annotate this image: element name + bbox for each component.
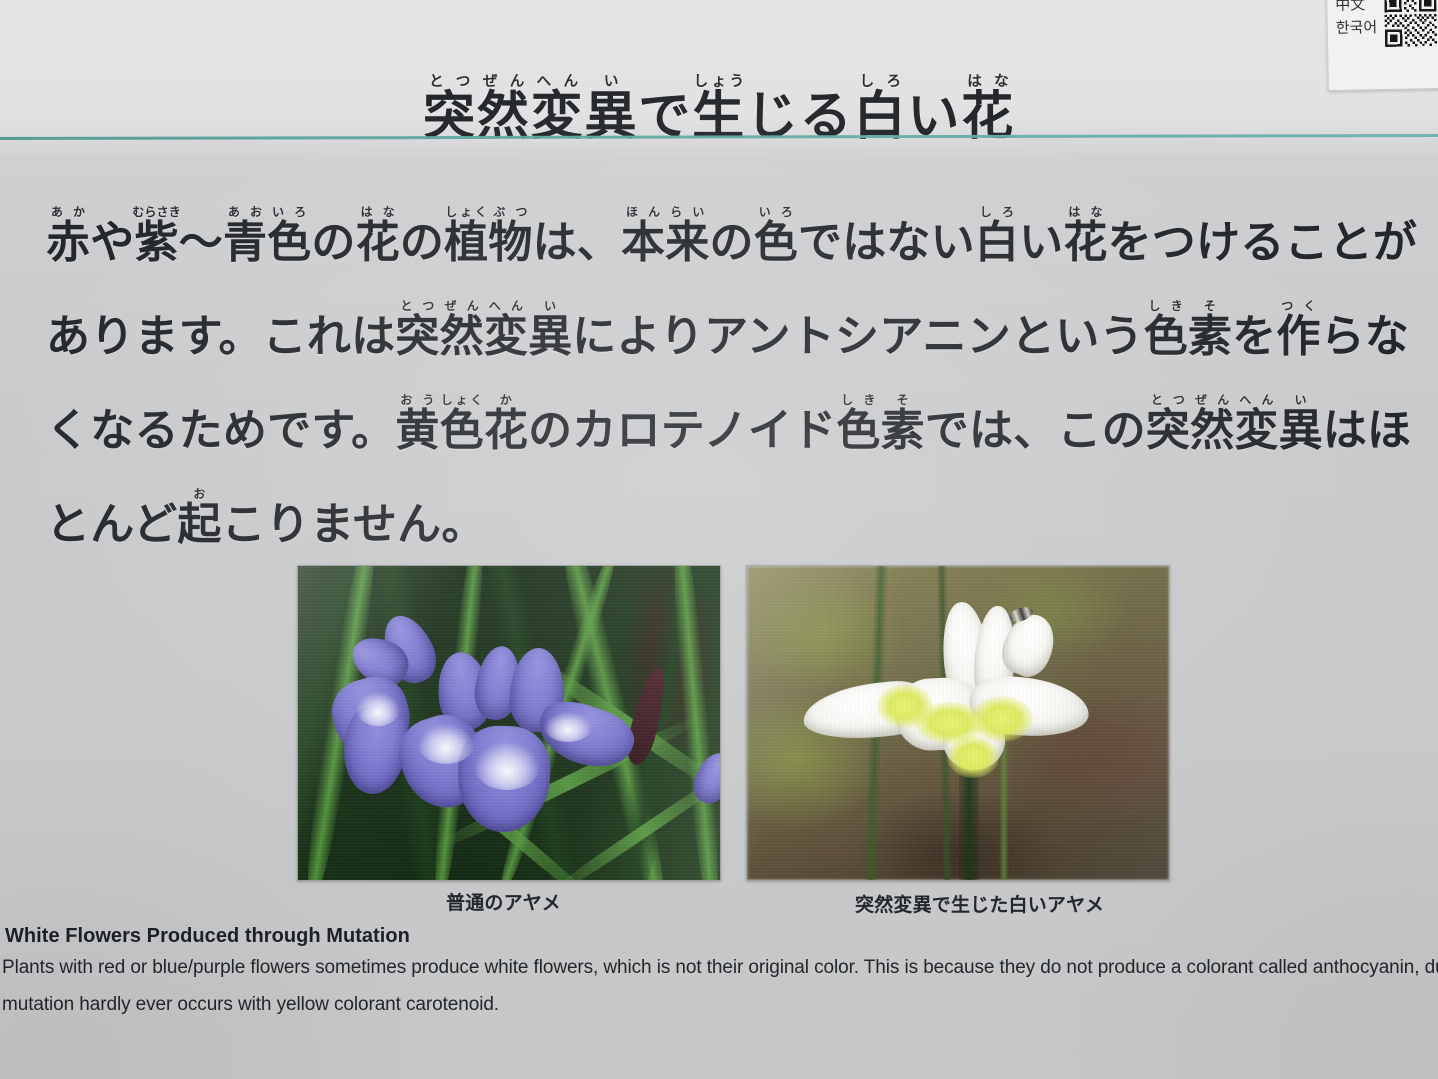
furigana: あか — [46, 205, 90, 219]
ruby-group: 素そ — [881, 405, 925, 456]
ruby-base: 花 — [356, 217, 400, 268]
japanese-body-text: 赤あかや紫むらさき〜青あお色いろの花はなの植しょく物ぶつは、本ほん来らいの色いろ… — [46, 196, 1408, 572]
furigana: へん — [1234, 393, 1278, 407]
ruby-base: 異 — [1279, 405, 1323, 456]
ruby-base: 色 — [440, 405, 484, 456]
furigana: へん — [531, 73, 585, 90]
japanese-body-line: くなるためです。黄おう色しょく花かのカロテノイド色しき素そでは、この突とつ然ぜん… — [46, 384, 1408, 478]
text-run: のカロテノイド — [528, 405, 836, 456]
furigana: むらさき — [132, 205, 180, 219]
furigana: そ — [1188, 299, 1232, 313]
ruby-base: 紫 — [132, 217, 180, 268]
ruby-group: 突とつ — [1146, 405, 1190, 456]
text-run: を — [1232, 311, 1276, 362]
furigana: とつ — [423, 73, 477, 90]
ruby-group: 色しき — [1144, 311, 1188, 362]
furigana: あお — [223, 205, 267, 219]
furigana: い — [1279, 393, 1323, 407]
japanese-body-line: とんど起おこりません。 — [46, 478, 1408, 572]
ruby-base: 突 — [395, 311, 439, 362]
text-run: ではない — [798, 217, 975, 268]
ruby-group: 物ぶつ — [488, 217, 532, 268]
ruby-base: 青 — [223, 217, 267, 268]
text-run: の — [311, 217, 355, 268]
ruby-base: 白 — [975, 217, 1019, 268]
furigana: しょく — [444, 205, 488, 219]
figure-normal-iris — [297, 565, 721, 881]
furigana: しろ — [854, 73, 908, 90]
ruby-base: 起 — [177, 499, 221, 550]
ruby-group: 変へん — [1234, 405, 1278, 456]
furigana: らい — [665, 205, 709, 219]
ruby-group: 然ぜん — [440, 311, 484, 362]
text-run: をつけることが — [1108, 217, 1418, 268]
language-qr-label[interactable]: 中文 한국어 — [1326, 0, 1438, 91]
furigana: ぜん — [1190, 393, 1234, 407]
sign-panel: 突とつ然ぜん変へん異いで生しょうじる白しろい花はな 赤あかや紫むらさき〜青あお色… — [0, 0, 1438, 1079]
ruby-base: 本 — [621, 217, 665, 268]
ruby-group: 変へん — [484, 311, 528, 362]
ruby-group: 来らい — [665, 217, 709, 268]
ruby-group: 紫むらさき — [134, 217, 178, 268]
japanese-body-line: 赤あかや紫むらさき〜青あお色いろの花はなの植しょく物ぶつは、本ほん来らいの色いろ… — [46, 196, 1408, 290]
figure-caption-normal-iris: 普通のアヤメ — [446, 888, 561, 915]
text-run: はほ — [1323, 405, 1411, 456]
ruby-group: 然ぜん — [1190, 405, 1234, 456]
text-run: い — [1019, 217, 1063, 268]
ruby-group: 起お — [177, 499, 221, 550]
furigana: しろ — [975, 205, 1019, 219]
furigana: そ — [881, 393, 925, 407]
text-run: らな — [1321, 311, 1409, 362]
furigana: お — [177, 487, 221, 501]
ruby-base: 花 — [1063, 217, 1107, 268]
ruby-group: 黄おう — [395, 405, 439, 456]
english-heading: White Flowers Produced through Mutation — [5, 925, 410, 948]
ruby-group: 赤あか — [46, 217, 90, 268]
ruby-base: 色 — [836, 405, 880, 456]
ruby-group: 色いろ — [267, 217, 311, 268]
qr-code-icon — [1384, 0, 1437, 47]
furigana: ほん — [621, 205, 665, 219]
ruby-group: 色いろ — [754, 217, 798, 268]
ruby-base: 物 — [488, 217, 532, 268]
ruby-base: 色 — [754, 217, 798, 268]
ruby-group: 異い — [528, 311, 572, 362]
ruby-base: 素 — [1188, 311, 1232, 362]
title-area: 突とつ然ぜん変へん異いで生しょうじる白しろい花はな — [0, 38, 1438, 184]
furigana: しょく — [440, 393, 484, 407]
ruby-base: 花 — [484, 405, 528, 456]
furigana: しょう — [692, 73, 746, 90]
furigana: ぜん — [477, 73, 531, 90]
language-korean: 한국어 — [1336, 16, 1378, 39]
furigana: ぶつ — [488, 205, 532, 219]
ruby-base: 変 — [1234, 405, 1278, 456]
language-chinese: 中文 — [1335, 0, 1377, 16]
figure-caption-white-iris: 突然変異で生じた白いアヤメ — [855, 890, 1104, 917]
furigana: い — [584, 73, 638, 90]
japanese-body-line: あります。これは突とつ然ぜん変へん異いによりアントシアニンという色しき素そを作つ… — [46, 290, 1408, 384]
furigana: ぜん — [440, 299, 484, 313]
furigana: とつ — [1146, 393, 1190, 407]
text-run: では、この — [925, 405, 1146, 456]
ruby-group: 突とつ — [395, 311, 439, 362]
language-list: 中文 한국어 — [1335, 0, 1377, 39]
ruby-base: 然 — [440, 311, 484, 362]
furigana: はな — [356, 205, 400, 219]
ruby-group: 作つく — [1276, 311, 1320, 362]
furigana: つく — [1276, 299, 1320, 313]
text-run: の — [400, 217, 444, 268]
furigana: いろ — [754, 205, 798, 219]
text-run: あります。これは — [46, 311, 395, 362]
text-run: くなるためです。 — [46, 405, 395, 456]
ruby-group: 花か — [484, 405, 528, 456]
ruby-group: 青あお — [223, 217, 267, 268]
ruby-base: 赤 — [46, 217, 90, 268]
furigana: しき — [836, 393, 880, 407]
ruby-group: 色しき — [836, 405, 880, 456]
ruby-group: 花はな — [356, 217, 400, 268]
ruby-group: 異い — [1279, 405, 1323, 456]
text-run: 〜 — [179, 217, 223, 268]
text-run: こりません。 — [222, 499, 486, 550]
ruby-group: 色しょく — [440, 405, 484, 456]
furigana: へん — [484, 299, 528, 313]
ruby-base: 然 — [1190, 405, 1234, 456]
ruby-base: 変 — [484, 311, 528, 362]
ruby-base: 素 — [881, 405, 925, 456]
text-run: によりアントシアニンという — [572, 311, 1143, 362]
ruby-base: 植 — [444, 217, 488, 268]
ruby-base: 色 — [1144, 311, 1188, 362]
ruby-base: 来 — [665, 217, 709, 268]
english-paragraph-line-1: Plants with red or blue/purple flowers s… — [2, 957, 1438, 979]
text-run: は、 — [533, 217, 621, 268]
ruby-base: 作 — [1276, 311, 1320, 362]
ruby-base: 黄 — [395, 405, 439, 456]
furigana: いろ — [267, 205, 311, 219]
furigana: おう — [395, 393, 439, 407]
furigana: しき — [1144, 299, 1188, 313]
furigana: とつ — [395, 299, 439, 313]
ruby-group: 植しょく — [444, 217, 488, 268]
ruby-base: 突 — [1146, 405, 1190, 456]
figure-white-iris — [746, 565, 1170, 881]
ruby-base: 異 — [528, 311, 572, 362]
furigana: はな — [1063, 205, 1107, 219]
ruby-group: 素そ — [1188, 311, 1232, 362]
ruby-group: 花はな — [1063, 217, 1107, 268]
furigana: はな — [961, 73, 1015, 90]
ruby-group: 本ほん — [621, 217, 665, 268]
text-run: とんど — [46, 499, 177, 550]
ruby-group: 白しろ — [975, 217, 1019, 268]
furigana: い — [528, 299, 572, 313]
ruby-base: 色 — [267, 217, 311, 268]
text-run: や — [90, 217, 134, 268]
text-run: の — [710, 217, 754, 268]
furigana: か — [484, 393, 528, 407]
english-paragraph-line-2: mutation hardly ever occurs with yellow … — [2, 994, 499, 1016]
